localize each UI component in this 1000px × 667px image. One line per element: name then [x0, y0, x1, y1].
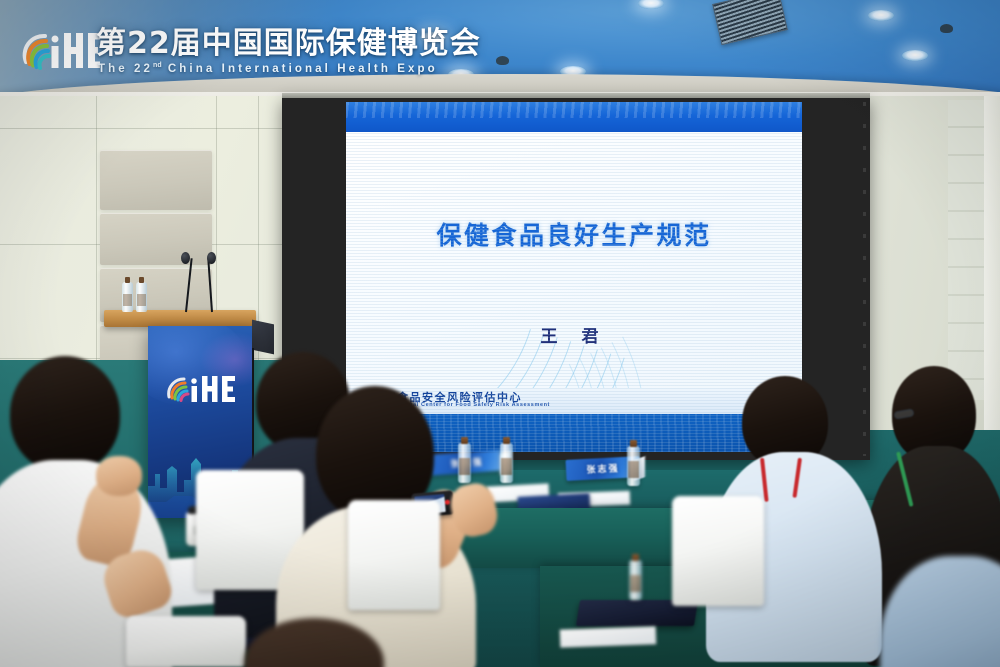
microphone-icon: [207, 252, 216, 264]
ihe-logo: [164, 372, 238, 411]
record-indicator-icon: [445, 500, 450, 505]
downlight-icon: [902, 50, 928, 61]
acoustic-panel: [100, 213, 212, 265]
clasped-hands: [96, 456, 142, 496]
water-bottle: [458, 443, 471, 483]
water-bottle: [136, 282, 147, 312]
paper-sheet: [560, 626, 657, 647]
glass-partition: [948, 100, 984, 400]
chair-back: [126, 616, 246, 667]
microphone-icon: [181, 252, 190, 264]
downlight-icon: [638, 0, 664, 9]
downlight-icon: [868, 10, 894, 21]
conference-photo-scene: 保健食品良好生产规范 王 君 国家食品安全风险评估中心 China Nation…: [0, 0, 1000, 667]
water-bottle: [122, 282, 133, 312]
hvac-vent-icon: [712, 0, 788, 45]
water-bottle: [500, 443, 513, 483]
ceiling-speaker-icon: [940, 24, 953, 33]
slide-title: 保健食品良好生产规范: [346, 216, 802, 252]
water-bottle: [627, 446, 640, 486]
head: [10, 356, 120, 472]
presentation-screen: 保健食品良好生产规范 王 君 国家食品安全风险评估中心 China Nation…: [346, 102, 802, 452]
slide-header-band: [346, 102, 802, 132]
slide-author: 王 君: [346, 322, 802, 347]
downlight-icon: [420, 32, 446, 43]
chair-back: [672, 496, 764, 606]
organizer-name-en: China National Center for Food Safety Ri…: [372, 402, 802, 408]
water-bottle: [629, 560, 642, 600]
podium-top-surface: [104, 310, 256, 327]
bezel-detail: [863, 102, 866, 456]
acoustic-panel: [100, 150, 212, 210]
podium-side-panel: [252, 320, 274, 355]
chair-back: [348, 500, 440, 610]
ceiling-speaker-icon: [496, 56, 509, 65]
